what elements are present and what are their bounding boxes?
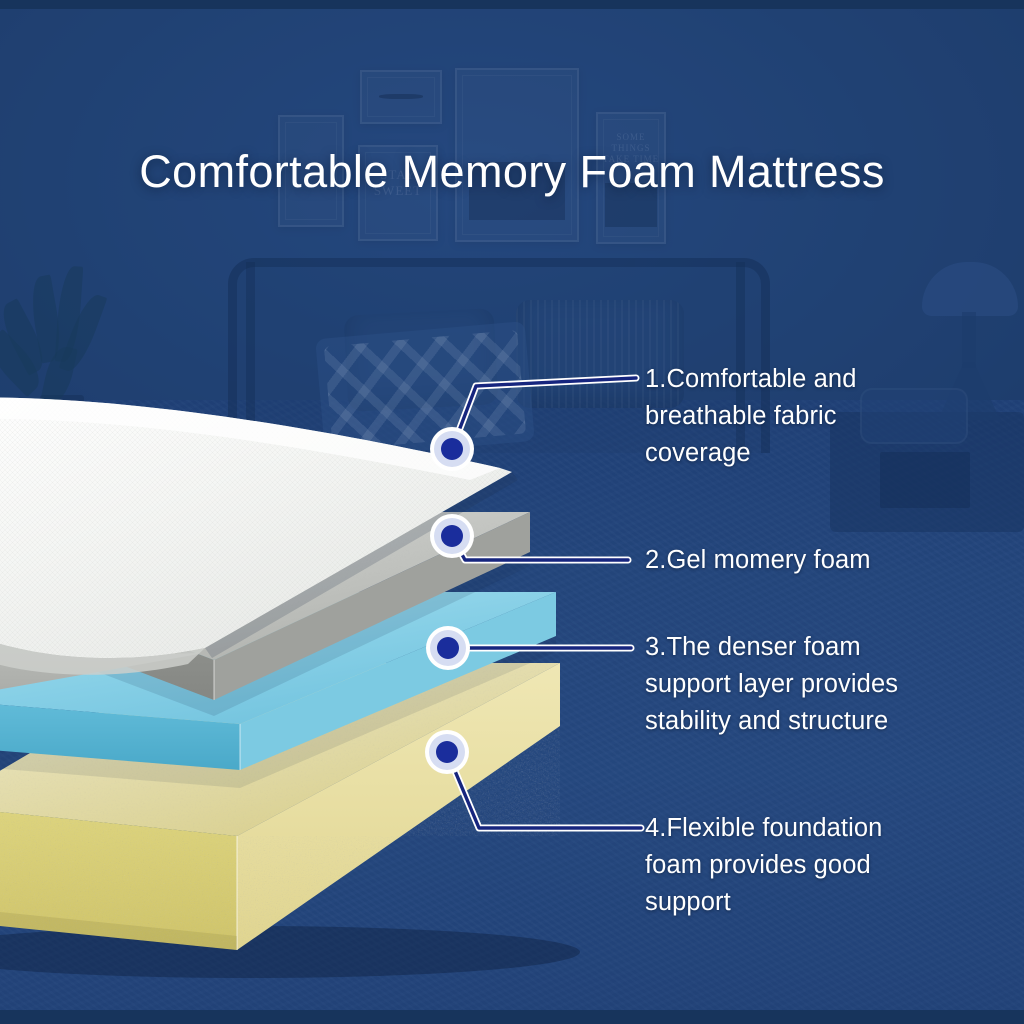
callout-label-1: 1.Comfortable and breathable fabric cove… xyxy=(645,361,985,472)
page-title: Comfortable Memory Foam Mattress xyxy=(0,146,1024,198)
callout-label-2: 2.Gel momery foam xyxy=(645,542,985,579)
infographic-canvas: STAY SWEET SOME THINGS TAKE TIME xyxy=(0,0,1024,1024)
callout-label-3: 3.The denser foam support layer provides… xyxy=(645,629,985,740)
callout-label-4: 4.Flexible foundation foam provides good… xyxy=(645,810,985,921)
